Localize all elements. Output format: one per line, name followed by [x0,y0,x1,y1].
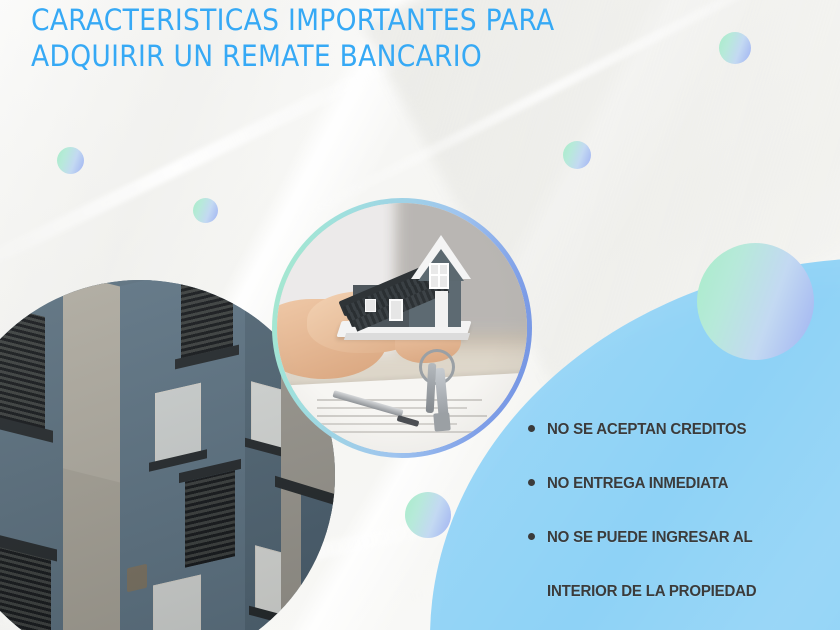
house-keys-photo-art [277,203,527,453]
list-item-label: NO SE ACEPTAN CREDITOS [547,418,746,442]
page-title-line-2: ADQUIRIR UN REMATE BANCARIO [31,38,651,74]
decorative-bubble-icon [405,492,451,538]
list-item-label: INTERIOR DE LA PROPIEDAD [547,580,756,604]
decorative-bubble-icon [57,147,84,174]
list-item-label: NO SE PUEDE INGRESAR AL [547,526,753,550]
poster-canvas: CARACTERISTICAS IMPORTANTES PARA ADQUIRI… [0,0,840,630]
bullet-dot-icon [528,479,535,486]
list-item-label: NO ENTREGA INMEDIATA [547,472,728,496]
decorative-bubble-icon [563,141,591,169]
page-title-line-1: CARACTERISTICAS IMPORTANTES PARA [31,2,651,38]
decorative-bubble-icon [193,198,218,223]
decorative-bubble-icon [719,32,751,64]
list-item: NO ENTREGA INMEDIATA [528,472,828,496]
bullet-dot-icon [528,425,535,432]
bullet-dot-icon [528,533,535,540]
house-keys-photo [272,198,532,458]
list-item-continuation: INTERIOR DE LA PROPIEDAD [528,580,828,604]
page-title: CARACTERISTICAS IMPORTANTES PARA ADQUIRI… [31,2,651,74]
feature-bullet-list: NO SE ACEPTAN CREDITOS NO ENTREGA INMEDI… [528,418,828,630]
list-item: NO SE ACEPTAN CREDITOS [528,418,828,442]
decorative-bubble-icon [697,243,814,360]
list-item: NO SE PUEDE INGRESAR AL [528,526,828,550]
